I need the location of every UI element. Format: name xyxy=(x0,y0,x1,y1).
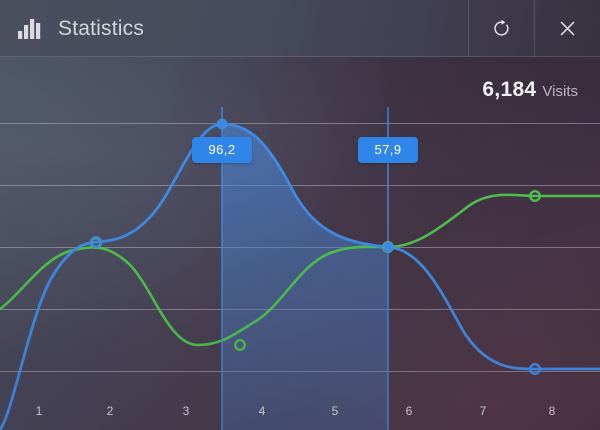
tooltip-blue-mid[interactable]: 57,9 xyxy=(358,137,418,163)
visits-count: 6,184 xyxy=(482,78,536,102)
statistics-widget: Statistics xyxy=(0,0,600,430)
data-point-marker-active xyxy=(383,242,394,253)
close-icon xyxy=(558,19,577,38)
refresh-button[interactable] xyxy=(468,0,534,57)
bar-chart-icon xyxy=(18,17,44,41)
x-tick-2: 2 xyxy=(107,404,114,418)
x-tick-7: 7 xyxy=(480,404,487,418)
line-chart xyxy=(0,57,600,430)
visits-summary: 6,184 Visits xyxy=(482,78,578,102)
visits-label: Visits xyxy=(542,83,578,100)
chart-panel: 6,184 Visits 96,2 57,9 1 2 3 4 5 6 7 8 xyxy=(0,57,600,430)
x-tick-3: 3 xyxy=(183,404,190,418)
title-bar: Statistics xyxy=(0,0,600,57)
page-title: Statistics xyxy=(58,17,144,41)
brand: Statistics xyxy=(18,0,144,57)
x-axis: 1 2 3 4 5 6 7 8 xyxy=(0,388,600,430)
x-tick-8: 8 xyxy=(549,404,556,418)
tooltip-blue-peak[interactable]: 96,2 xyxy=(192,137,252,163)
close-button[interactable] xyxy=(534,0,600,57)
x-tick-6: 6 xyxy=(406,404,413,418)
x-tick-5: 5 xyxy=(332,404,339,418)
x-tick-4: 4 xyxy=(259,404,266,418)
data-point-marker-active xyxy=(217,119,228,130)
window-controls xyxy=(468,0,600,57)
blue-area-fill xyxy=(222,124,388,430)
x-tick-1: 1 xyxy=(36,404,43,418)
refresh-icon xyxy=(492,19,511,38)
